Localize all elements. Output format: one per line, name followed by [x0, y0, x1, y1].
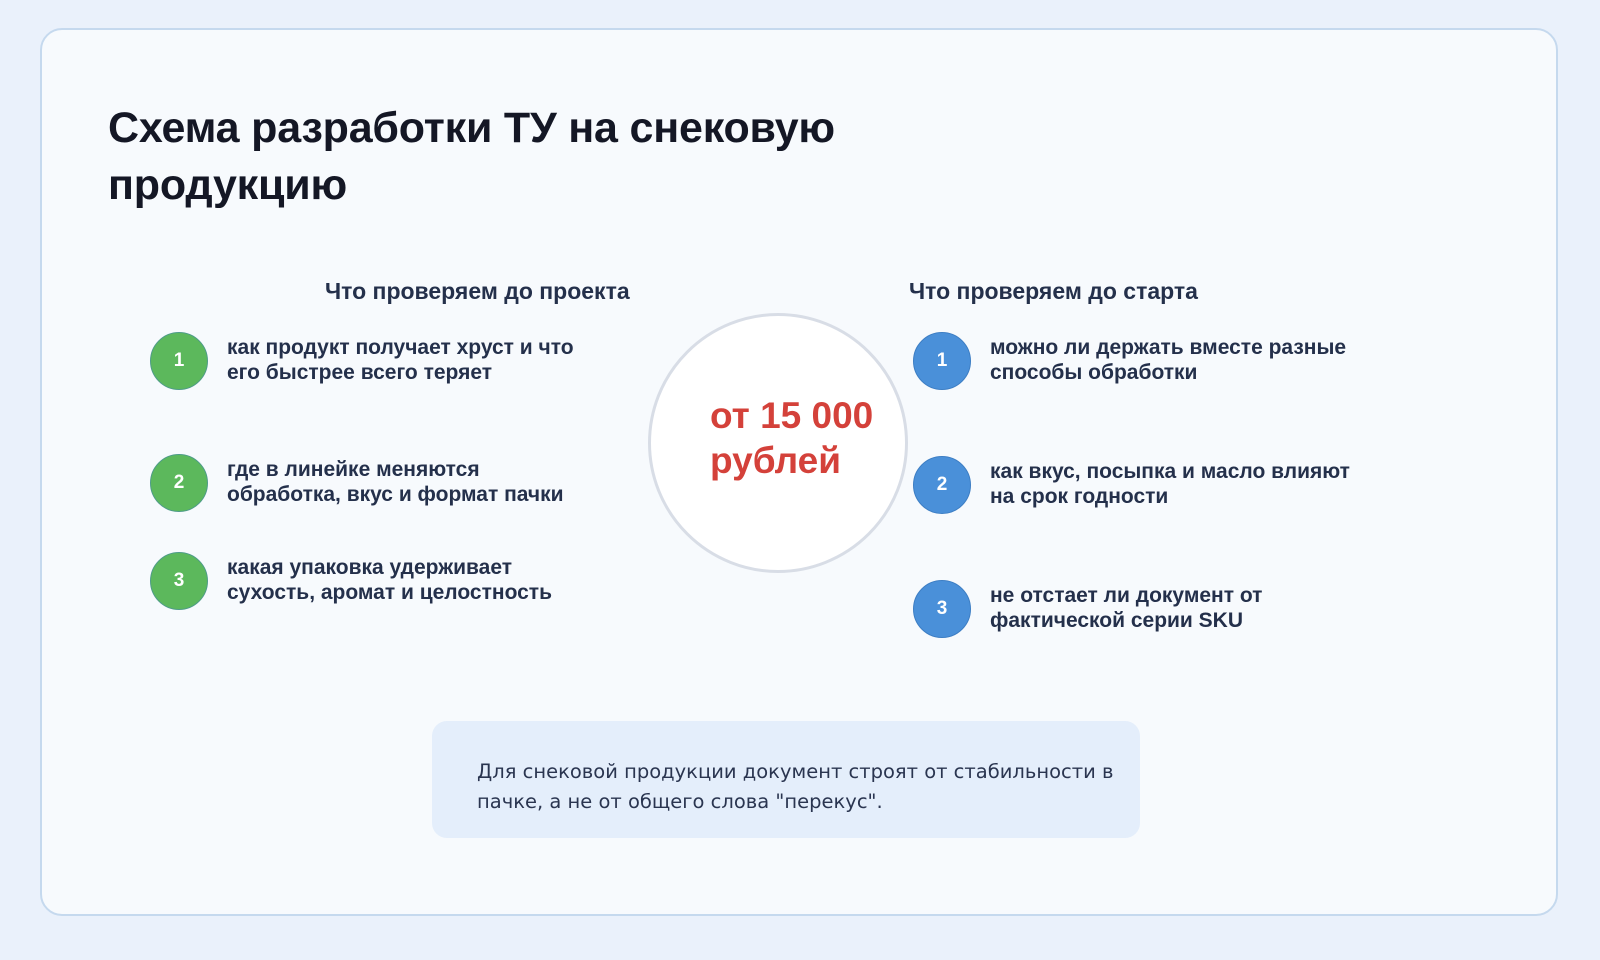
- step-number-badge: 2: [150, 454, 208, 512]
- step-number-badge: 3: [150, 552, 208, 610]
- list-item-label: какая упаковка удерживает сухость, арома…: [227, 550, 590, 605]
- step-number-badge: 2: [913, 456, 971, 514]
- right-column-header: Что проверяем до старта: [909, 278, 1198, 305]
- list-item-label: не отстает ли документ от фактической се…: [990, 578, 1353, 633]
- footnote-box: Для снековой продукции документ строят о…: [432, 721, 1140, 838]
- list-item-label: можно ли держать вместе разные способы о…: [990, 330, 1353, 385]
- list-item[interactable]: 3 какая упаковка удерживает сухость, аро…: [150, 550, 590, 612]
- list-item[interactable]: 3 не отстает ли документ от фактической …: [913, 578, 1353, 640]
- list-item-label: как вкус, посыпка и масло влияют на срок…: [990, 454, 1353, 509]
- list-item[interactable]: 2 где в линейке меняются обработка, вкус…: [150, 452, 590, 514]
- list-item[interactable]: 2 как вкус, посыпка и масло влияют на ср…: [913, 454, 1353, 516]
- list-item[interactable]: 1 можно ли держать вместе разные способы…: [913, 330, 1353, 392]
- step-number-badge: 1: [913, 332, 971, 390]
- list-item-label: где в линейке меняются обработка, вкус и…: [227, 452, 590, 507]
- list-item[interactable]: 1 как продукт получает хруст и что его б…: [150, 330, 590, 392]
- price-label: от 15 000 рублей: [710, 393, 880, 483]
- step-number-badge: 3: [913, 580, 971, 638]
- page-title: Схема разработки ТУ на снековую продукци…: [108, 100, 1068, 214]
- left-column-header: Что проверяем до проекта: [325, 278, 630, 305]
- step-number-badge: 1: [150, 332, 208, 390]
- list-item-label: как продукт получает хруст и что его быс…: [227, 330, 590, 385]
- footnote-text: Для снековой продукции документ строят о…: [477, 757, 1117, 817]
- infographic-stage: Схема разработки ТУ на снековую продукци…: [0, 0, 1600, 960]
- right-column-items: 1 можно ли держать вместе разные способы…: [913, 330, 1353, 684]
- left-column-items: 1 как продукт получает хруст и что его б…: [150, 330, 590, 656]
